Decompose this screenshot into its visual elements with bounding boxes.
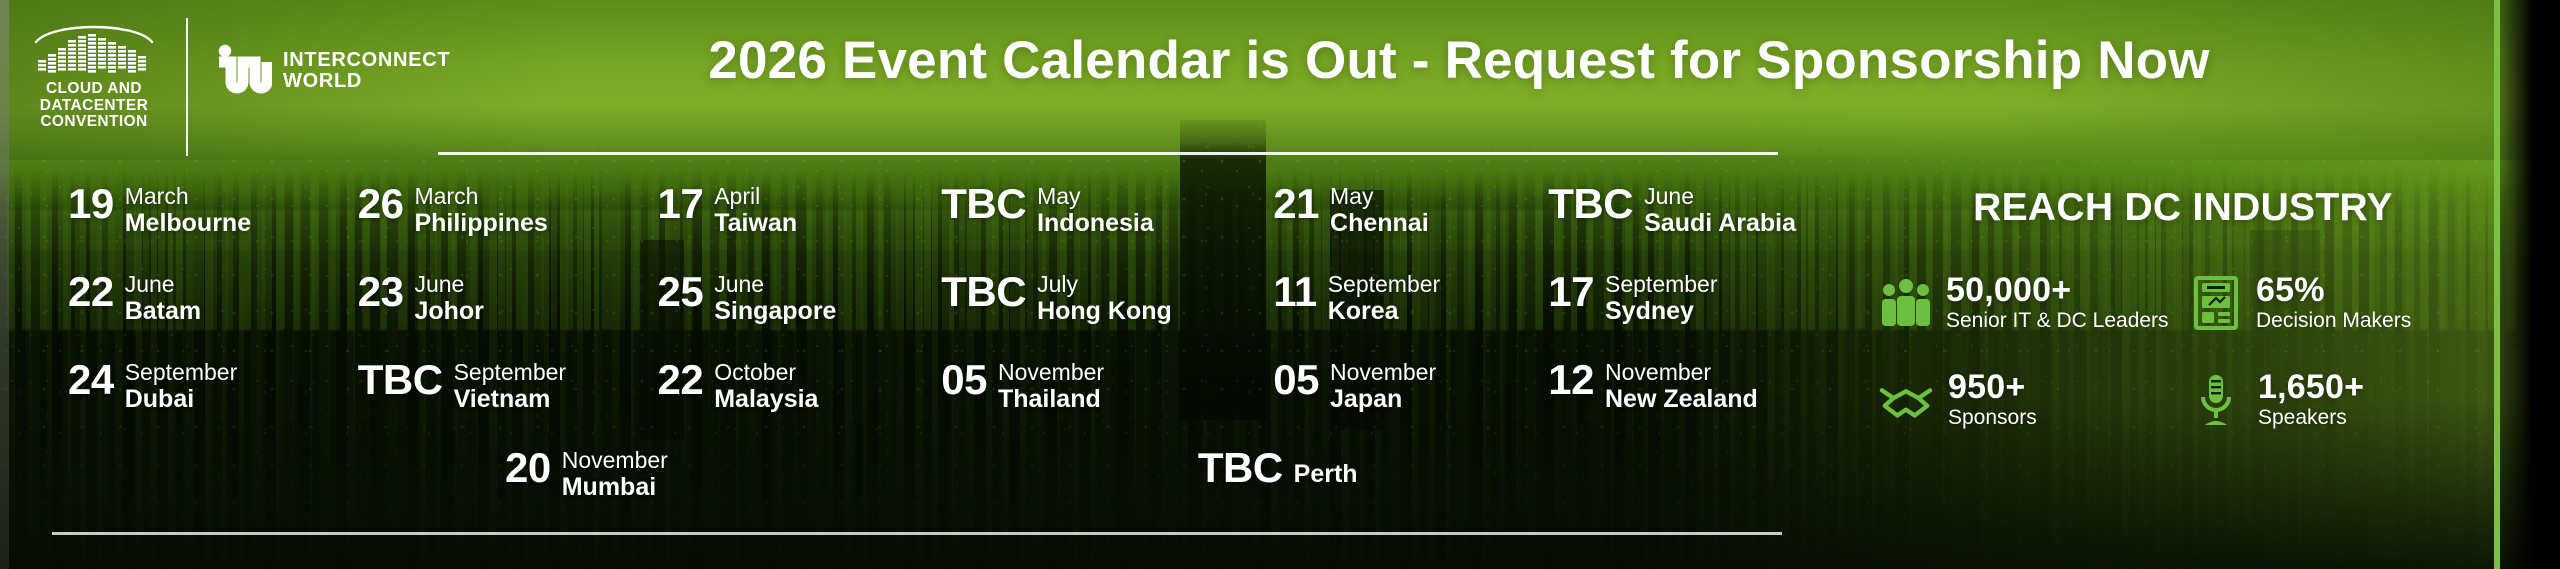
event-item[interactable]: TBC Perth (1198, 446, 1358, 490)
page-title: 2026 Event Calendar is Out - Request for… (438, 30, 2480, 92)
cloud-and-datacenter-convention-logo: CLOUD AND DATACENTER CONVENTION (28, 16, 160, 131)
event-item[interactable]: 24 September Dubai (0, 358, 340, 412)
event-item[interactable]: 25 June Singapore (630, 270, 930, 324)
event-month: November (562, 447, 668, 473)
stat-label: Speakers (2258, 405, 2364, 430)
stats-grid: 50,000+ Senior IT & DC Leaders (1878, 272, 2488, 430)
event-row: 19 March Melbourne 26 March Philippines … (0, 182, 1820, 270)
event-meta: Perth (1294, 461, 1358, 487)
event-day: 17 (658, 182, 704, 226)
event-day: TBC (941, 270, 1026, 314)
event-calendar-banner: CLOUD AND DATACENTER CONVENTION INTERCON… (0, 0, 2560, 569)
iw-wordmark: INTERCONNECT WORLD (283, 50, 450, 92)
event-day: 05 (941, 358, 987, 402)
event-month: November (1605, 359, 1758, 385)
event-meta: July Hong Kong (1037, 271, 1172, 325)
event-month: May (1330, 183, 1429, 209)
event-item[interactable]: 21 May Chennai (1239, 182, 1536, 236)
handshake-icon (1878, 372, 1934, 428)
event-location: Vietnam (454, 385, 567, 413)
event-location: Hong Kong (1037, 297, 1172, 325)
event-day: 17 (1548, 270, 1594, 314)
event-meta: March Melbourne (125, 183, 251, 237)
stat-label: Sponsors (1948, 405, 2037, 430)
event-item[interactable]: TBC July Hong Kong (929, 270, 1239, 324)
event-month: November (1330, 359, 1436, 385)
event-month: June (125, 271, 201, 297)
microphone-icon (2188, 372, 2244, 428)
event-day: TBC (1548, 182, 1633, 226)
event-item[interactable]: 05 November Japan (1239, 358, 1536, 412)
left-edge-strip (0, 0, 9, 569)
event-day: 24 (68, 358, 114, 402)
event-item[interactable]: 23 June Johor (340, 270, 630, 324)
stat-value: 65% (2256, 272, 2411, 308)
event-month: June (414, 271, 483, 297)
event-month: April (714, 183, 797, 209)
event-row: 22 June Batam 23 June Johor 25 June Sing… (0, 270, 1820, 358)
stat-label: Decision Makers (2256, 308, 2411, 333)
event-month: September (1605, 271, 1718, 297)
event-meta: June Batam (125, 271, 201, 325)
stat-text: 950+ Sponsors (1948, 369, 2037, 430)
event-month: October (714, 359, 818, 385)
event-location: Melbourne (125, 209, 251, 237)
event-meta: September Sydney (1605, 271, 1718, 325)
event-item[interactable]: TBC September Vietnam (340, 358, 630, 412)
event-meta: June Singapore (714, 271, 836, 325)
stat-text: 65% Decision Makers (2256, 272, 2411, 333)
event-month: Perth (1294, 460, 1358, 488)
event-month: September (454, 359, 567, 385)
event-day: 12 (1548, 358, 1594, 402)
event-calendar-grid: 19 March Melbourne 26 March Philippines … (0, 182, 1820, 534)
logo-divider (186, 18, 188, 156)
bottom-divider-rule (52, 532, 1782, 535)
event-item[interactable]: 19 March Melbourne (0, 182, 340, 236)
event-month: July (1037, 271, 1172, 297)
event-location: Korea (1328, 297, 1441, 325)
event-item[interactable]: 26 March Philippines (340, 182, 630, 236)
event-month: September (1328, 271, 1441, 297)
event-location: Sydney (1605, 297, 1718, 325)
event-day: 22 (658, 358, 704, 402)
cdc-wordmark: CLOUD AND DATACENTER CONVENTION (40, 81, 148, 131)
event-day: 22 (68, 270, 114, 314)
event-meta: November Thailand (998, 359, 1104, 413)
event-month: September (125, 359, 238, 385)
event-day: 26 (358, 182, 404, 226)
server-rack-icon (2188, 275, 2244, 331)
event-month: March (414, 183, 547, 209)
event-item[interactable]: TBC May Indonesia (929, 182, 1239, 236)
event-meta: September Vietnam (454, 359, 567, 413)
stat-value: 950+ (1948, 369, 2037, 405)
event-meta: November Mumbai (562, 447, 668, 501)
event-location: Singapore (714, 297, 836, 325)
event-day: 25 (658, 270, 704, 314)
event-item[interactable]: 05 November Thailand (929, 358, 1239, 412)
stats-title: REACH DC INDUSTRY (1878, 186, 2488, 230)
right-accent-bar (2494, 0, 2500, 569)
event-day: TBC (941, 182, 1026, 226)
stat-item-sponsors: 950+ Sponsors (1878, 369, 2178, 430)
event-item[interactable]: 17 April Taiwan (630, 182, 930, 236)
title-underline-rule (438, 152, 1778, 155)
event-location: Malaysia (714, 385, 818, 413)
event-month: June (1644, 183, 1796, 209)
stat-text: 50,000+ Senior IT & DC Leaders (1946, 272, 2169, 333)
stat-item-decision-makers: 65% Decision Makers (2188, 272, 2488, 333)
event-day: 05 (1273, 358, 1319, 402)
event-month: June (714, 271, 836, 297)
event-meta: September Korea (1328, 271, 1441, 325)
event-meta: November Japan (1330, 359, 1436, 413)
logo-lockup: CLOUD AND DATACENTER CONVENTION INTERCON… (28, 16, 450, 156)
event-location: New Zealand (1605, 385, 1758, 413)
event-meta: October Malaysia (714, 359, 818, 413)
event-location: Mumbai (562, 473, 668, 501)
event-day: TBC (358, 358, 443, 402)
interconnect-world-logo: INTERCONNECT WORLD (214, 16, 450, 100)
right-edge-strip (2500, 0, 2560, 569)
event-meta: November New Zealand (1605, 359, 1758, 413)
event-month: May (1037, 183, 1154, 209)
event-meta: June Johor (414, 271, 483, 325)
event-meta: May Indonesia (1037, 183, 1154, 237)
event-day: TBC (1198, 446, 1283, 490)
event-meta: April Taiwan (714, 183, 797, 237)
event-day: 19 (68, 182, 114, 226)
event-meta: June Saudi Arabia (1644, 183, 1796, 237)
iw-monogram-icon (214, 42, 272, 100)
event-month: November (998, 359, 1104, 385)
event-row: 20 November Mumbai TBC Perth (0, 446, 1820, 534)
event-day: 23 (358, 270, 404, 314)
event-location: Thailand (998, 385, 1104, 413)
event-item[interactable]: 11 September Korea (1239, 270, 1536, 324)
event-location: Dubai (125, 385, 238, 413)
event-day: 20 (505, 446, 551, 490)
reach-stats-panel: REACH DC INDUSTRY 50,000+ Senior IT & DC… (1878, 186, 2488, 430)
event-meta: September Dubai (125, 359, 238, 413)
event-item[interactable]: 17 September Sydney (1536, 270, 1820, 324)
event-location: Batam (125, 297, 201, 325)
event-location: Johor (414, 297, 483, 325)
event-day: 21 (1273, 182, 1319, 226)
event-item[interactable]: 22 October Malaysia (630, 358, 930, 412)
event-item[interactable]: 20 November Mumbai (505, 446, 668, 500)
stat-label: Senior IT & DC Leaders (1946, 308, 2169, 333)
datacenter-skyline-icon (30, 20, 158, 76)
people-group-icon (1878, 275, 1934, 331)
stat-text: 1,650+ Speakers (2258, 369, 2364, 430)
event-row: 24 September Dubai TBC September Vietnam… (0, 358, 1820, 446)
event-meta: March Philippines (414, 183, 547, 237)
event-location: Indonesia (1037, 209, 1154, 237)
event-meta: May Chennai (1330, 183, 1429, 237)
stat-item-leaders: 50,000+ Senior IT & DC Leaders (1878, 272, 2178, 333)
event-location: Taiwan (714, 209, 797, 237)
event-location: Saudi Arabia (1644, 209, 1796, 237)
stat-item-speakers: 1,650+ Speakers (2188, 369, 2488, 430)
event-item[interactable]: 12 November New Zealand (1536, 358, 1820, 412)
stat-value: 50,000+ (1946, 272, 2169, 308)
event-location: Chennai (1330, 209, 1429, 237)
event-month: March (125, 183, 251, 209)
event-item[interactable]: 22 June Batam (0, 270, 340, 324)
stat-value: 1,650+ (2258, 369, 2364, 405)
event-day: 11 (1273, 270, 1316, 314)
event-location: Japan (1330, 385, 1436, 413)
event-location: Philippines (414, 209, 547, 237)
event-item[interactable]: TBC June Saudi Arabia (1536, 182, 1820, 236)
